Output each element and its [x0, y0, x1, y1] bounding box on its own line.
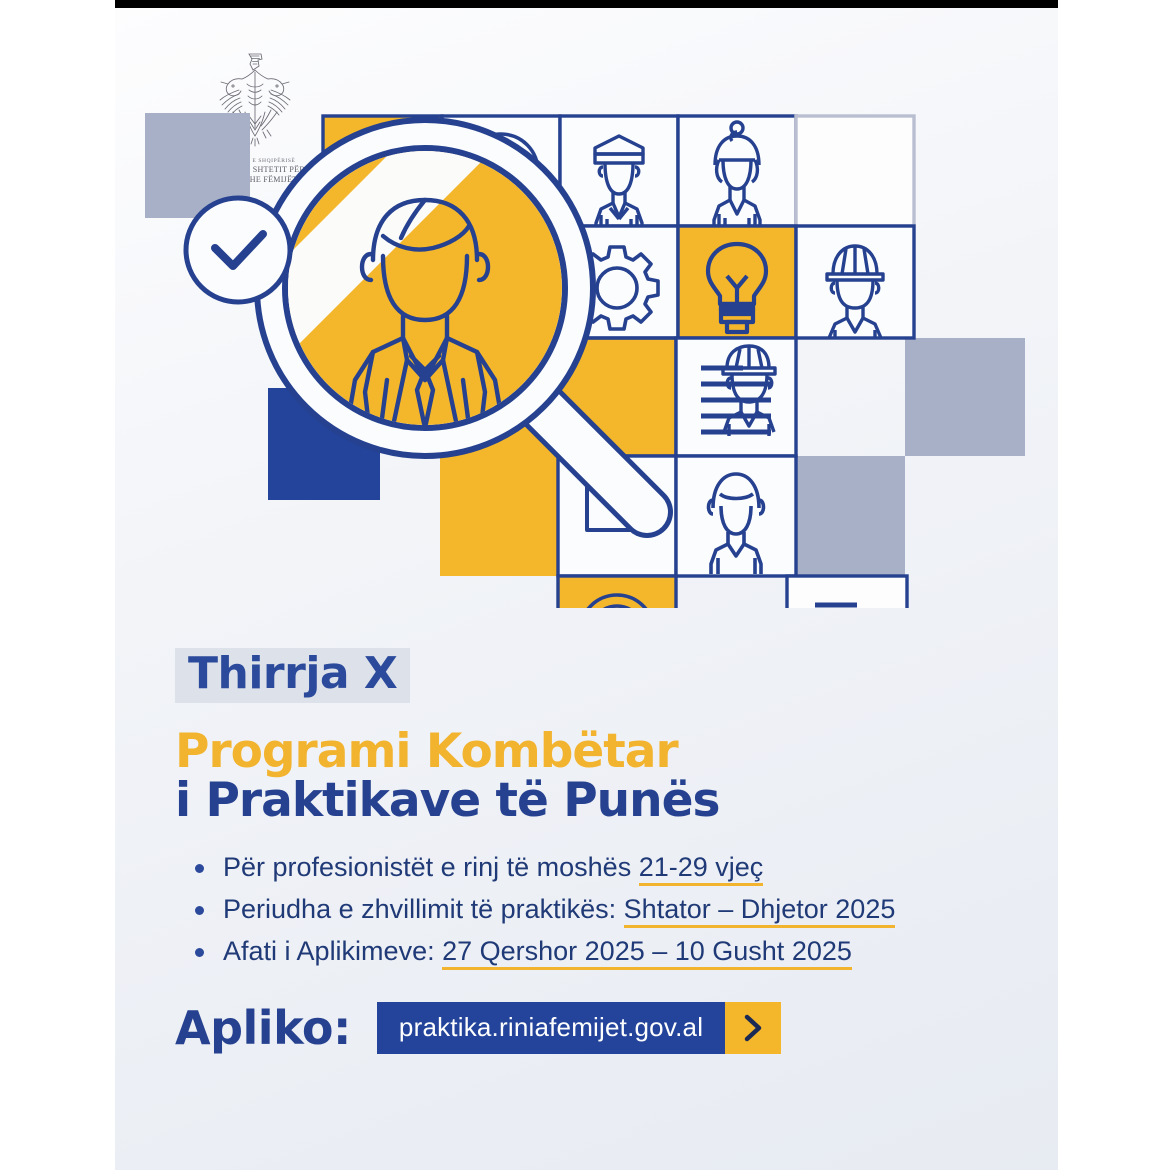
details-list: Për profesionistët e rinj të moshës 21-2…	[193, 852, 1055, 967]
list-item: Periudha e zhvillimit të praktikës: Shta…	[193, 894, 1055, 925]
apply-label: Apliko:	[175, 1001, 351, 1055]
tile-worker	[796, 226, 914, 338]
gold-block-bottomleft	[440, 456, 558, 576]
apply-row: Apliko: praktika.riniafemijet.gov.al	[175, 1001, 1055, 1055]
apply-url-text[interactable]: praktika.riniafemijet.gov.al	[377, 1002, 725, 1054]
list-item: Afati i Aplikimeve: 27 Qershor 2025 – 10…	[193, 936, 1055, 967]
bullet-text: Për profesionistët e rinj të moshës	[223, 852, 639, 882]
page-title: Programi Kombëtar i Praktikave të Punës	[175, 727, 1055, 826]
top-black-bar	[115, 0, 1058, 8]
poster-root: REPUBLIKA E SHQIPËRISË MINISTËR I SHTETI…	[0, 0, 1170, 1170]
apply-url-button[interactable]: praktika.riniafemijet.gov.al	[377, 1002, 781, 1054]
bullet-text: Afati i Aplikimeve:	[223, 936, 442, 966]
text-block: Thirrja X Programi Kombëtar i Praktikave…	[175, 648, 1055, 1055]
call-badge: Thirrja X	[175, 648, 410, 703]
title-line-2: i Praktikave të Punës	[175, 776, 1055, 825]
tile-target-2	[558, 576, 676, 608]
bullet-highlight: Shtator – Dhjetor 2025	[624, 894, 896, 928]
hero-illustration	[115, 8, 1058, 608]
poster-canvas: REPUBLIKA E SHQIPËRISË MINISTËR I SHTETI…	[115, 8, 1058, 1170]
tile-police	[560, 116, 678, 226]
gray-block-right-lower	[787, 456, 905, 576]
bullet-dot-icon	[195, 948, 204, 957]
illustration-svg	[115, 8, 1058, 608]
bullet-highlight: 21-29 vjeç	[639, 852, 764, 886]
tile-empty-2	[796, 116, 914, 226]
bullet-text: Periudha e zhvillimit të praktikës:	[223, 894, 624, 924]
chevron-right-icon[interactable]	[725, 1002, 781, 1054]
bullet-dot-icon	[195, 864, 204, 873]
gray-block-right-upper	[905, 338, 1025, 456]
list-item: Për profesionistët e rinj të moshës 21-2…	[193, 852, 1055, 883]
check-circle-icon	[186, 198, 290, 302]
bullet-dot-icon	[195, 906, 204, 915]
call-badge-label: Thirrja X	[188, 648, 397, 699]
title-line-1: Programi Kombëtar	[175, 727, 1055, 776]
bullet-highlight: 27 Qershor 2025 – 10 Gusht 2025	[442, 936, 852, 970]
